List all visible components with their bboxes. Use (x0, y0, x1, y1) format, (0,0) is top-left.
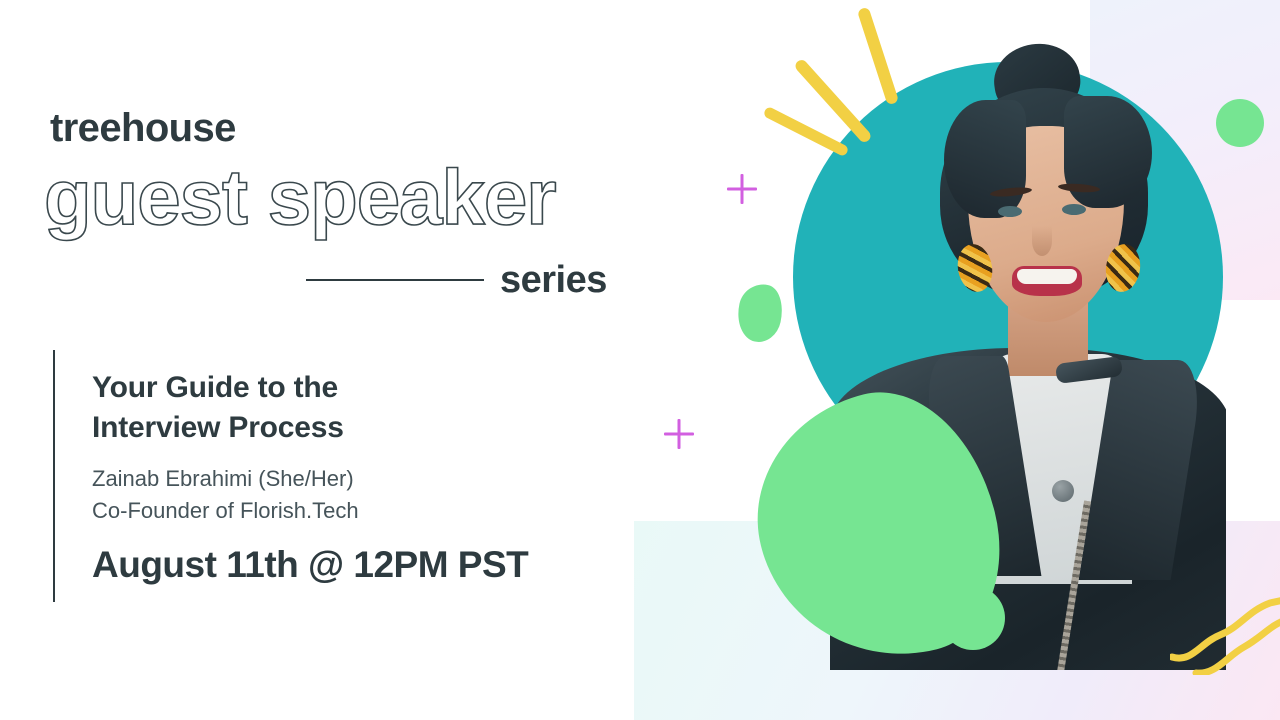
promo-slide: treehouse guest speaker series Your Guid… (0, 0, 1280, 720)
vertical-divider (53, 350, 55, 602)
plus-mark-2 (664, 419, 694, 449)
plus-mark-1 (727, 174, 757, 204)
green-dot-top (1216, 99, 1264, 147)
event-info-block: Your Guide to the Interview Process Zain… (92, 368, 612, 586)
guest-speaker-headline: guest speaker (44, 158, 556, 236)
treehouse-wordmark: treehouse (50, 108, 236, 148)
series-row: series (306, 258, 626, 302)
event-datetime: August 11th @ 12PM PST (92, 545, 612, 586)
speaker-name: Zainab Ebrahimi (She/Her) (92, 463, 612, 495)
jacket-stud (1052, 480, 1074, 502)
green-dot-bottom (941, 586, 1005, 650)
nose (1032, 226, 1052, 256)
talk-title: Your Guide to the Interview Process (92, 368, 612, 447)
speaker-role: Co-Founder of Florish.Tech (92, 495, 612, 527)
teeth (1017, 269, 1077, 284)
eye-right (1062, 204, 1086, 215)
eye-left (998, 206, 1022, 217)
mouth (1012, 266, 1082, 296)
series-label: series (500, 261, 607, 299)
yellow-waves (1170, 585, 1280, 675)
hair-front-left (944, 100, 1026, 218)
series-rule (306, 279, 484, 281)
green-blob-small (732, 280, 787, 346)
